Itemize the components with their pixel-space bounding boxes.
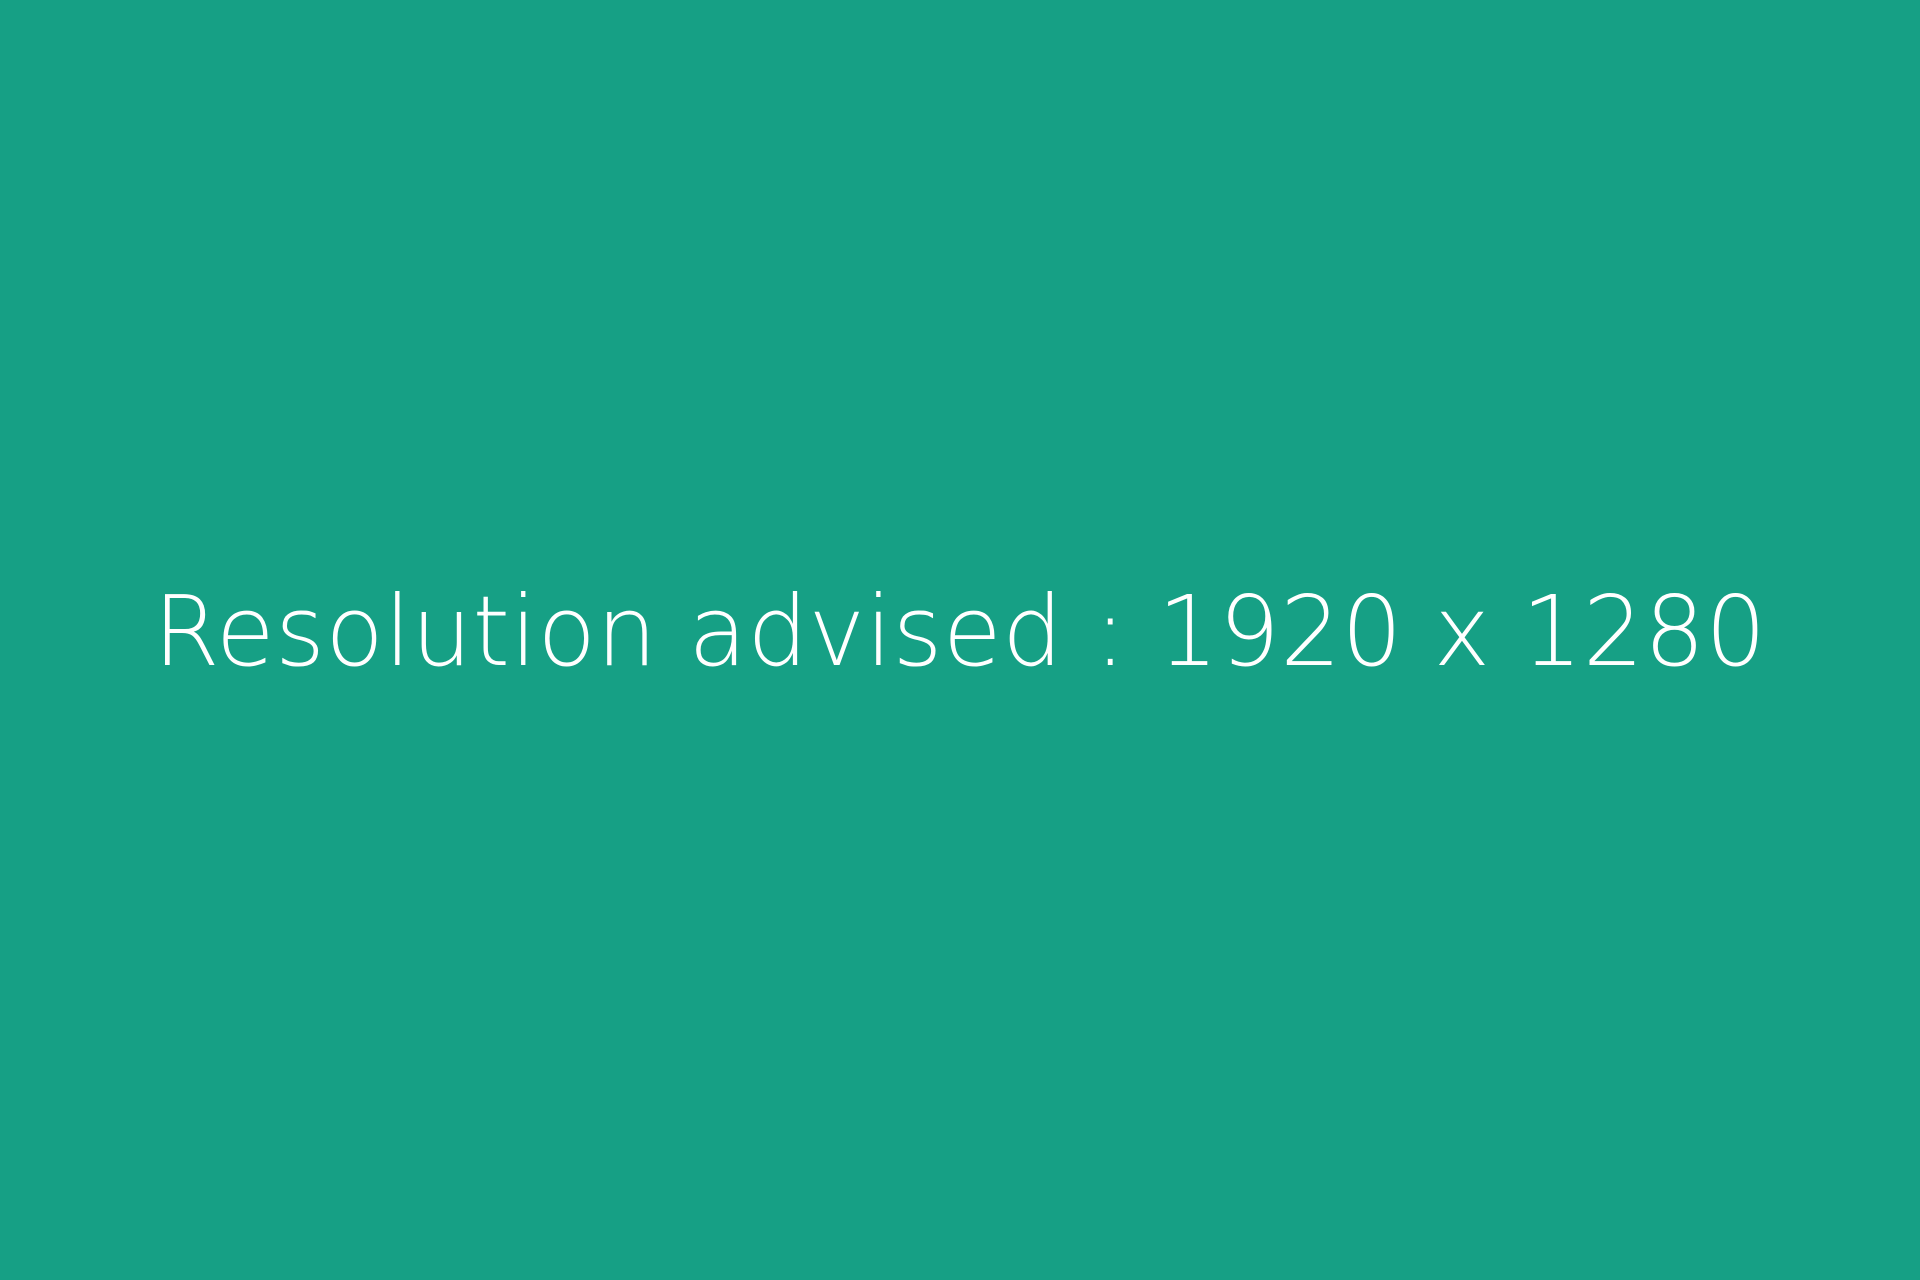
resolution-advisory-text: Resolution advised : 1920 x 1280: [14, 583, 1905, 680]
placeholder-screen: Resolution advised : 1920 x 1280: [0, 0, 1920, 1280]
